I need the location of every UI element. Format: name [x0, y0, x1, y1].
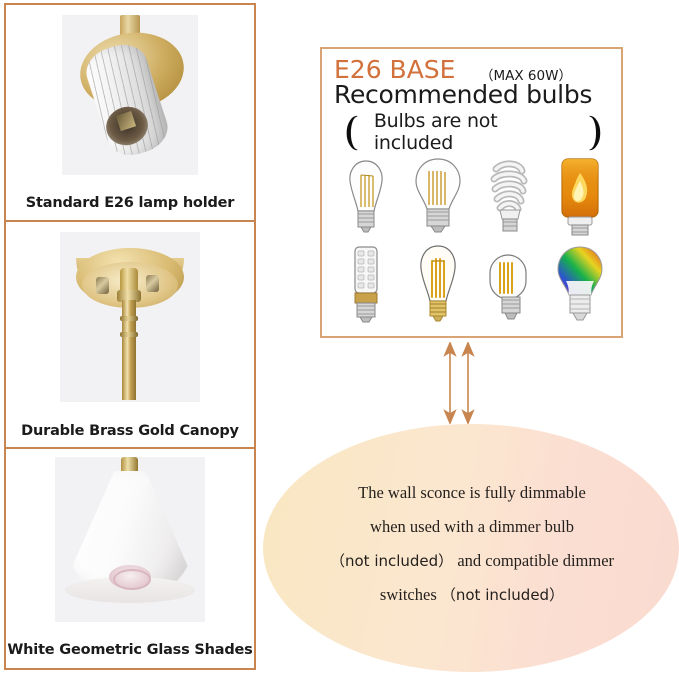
- note-line-3-not-included: （not included）: [330, 552, 453, 570]
- st64-amber-edison-bulb: [402, 241, 474, 327]
- bracket-left-icon: ❨: [342, 113, 362, 151]
- recommended-bulbs-subtitle: Recommended bulbs: [334, 80, 592, 109]
- dimmable-note-ellipse: The wall sconce is fully dimmable when u…: [263, 424, 679, 672]
- feature-panel-canopy: Durable Brass Gold Canopy: [6, 220, 254, 447]
- a19-filament-bulb: [402, 153, 474, 239]
- note-line-2: when used with a dimmer bulb: [370, 517, 574, 536]
- connector-arrows: [430, 342, 500, 424]
- bulbs-not-included-label: Bulbs are not included: [374, 110, 573, 154]
- brass-canopy-photo: [60, 232, 200, 402]
- infographic-root: Standard E26 lamp holder Durable Brass G…: [0, 0, 679, 673]
- bracket-right-icon: ❩: [585, 113, 605, 151]
- bulbs-not-included-banner: ❨ Bulbs are not included ❩: [336, 115, 611, 149]
- recommended-bulbs-box: E26 BASE （MAX 60W） Recommended bulbs ❨ B…: [320, 47, 623, 338]
- bulb-type-grid: [328, 153, 616, 333]
- flame-effect-led-bulb: [544, 153, 616, 239]
- feature-panel-column: Standard E26 lamp holder Durable Brass G…: [4, 3, 256, 670]
- canopy-rod-ring-icon: [120, 332, 138, 337]
- note-line-4-not-included: （not included）: [441, 586, 564, 604]
- dimmable-note-text: The wall sconce is fully dimmable when u…: [305, 476, 639, 612]
- bulb-row: [328, 153, 616, 239]
- canopy-rod-ring-icon: [120, 316, 138, 321]
- rgb-smart-color-bulb: [544, 241, 616, 327]
- panel-caption-canopy: Durable Brass Gold Canopy: [6, 423, 254, 439]
- shade-inner-ring-icon: [113, 569, 151, 590]
- canopy-rod-icon: [122, 300, 136, 400]
- panel-caption-lamp-holder: Standard E26 lamp holder: [6, 195, 254, 211]
- st64-edison-filament-bulb: [330, 153, 402, 239]
- note-line-3-rest: and compatible dimmer: [453, 551, 614, 570]
- note-line-1: The wall sconce is fully dimmable: [358, 483, 586, 502]
- panel-caption-glass-shade: White Geometric Glass Shades: [6, 642, 254, 658]
- t30-tubular-filament-bulb: [474, 241, 546, 327]
- bulb-row: [328, 241, 616, 327]
- cfl-spiral-bulb: [474, 153, 546, 239]
- canopy-screw-left-icon: [96, 277, 109, 294]
- feature-panel-glass-shade: White Geometric Glass Shades: [6, 447, 254, 668]
- lamp-holder-photo: [62, 15, 198, 175]
- glass-shade-photo: [55, 457, 205, 622]
- led-corn-bulb: [330, 241, 402, 327]
- feature-panel-lamp-holder: Standard E26 lamp holder: [6, 5, 254, 220]
- canopy-screw-right-icon: [146, 275, 159, 292]
- note-line-4-switches: switches: [380, 585, 441, 604]
